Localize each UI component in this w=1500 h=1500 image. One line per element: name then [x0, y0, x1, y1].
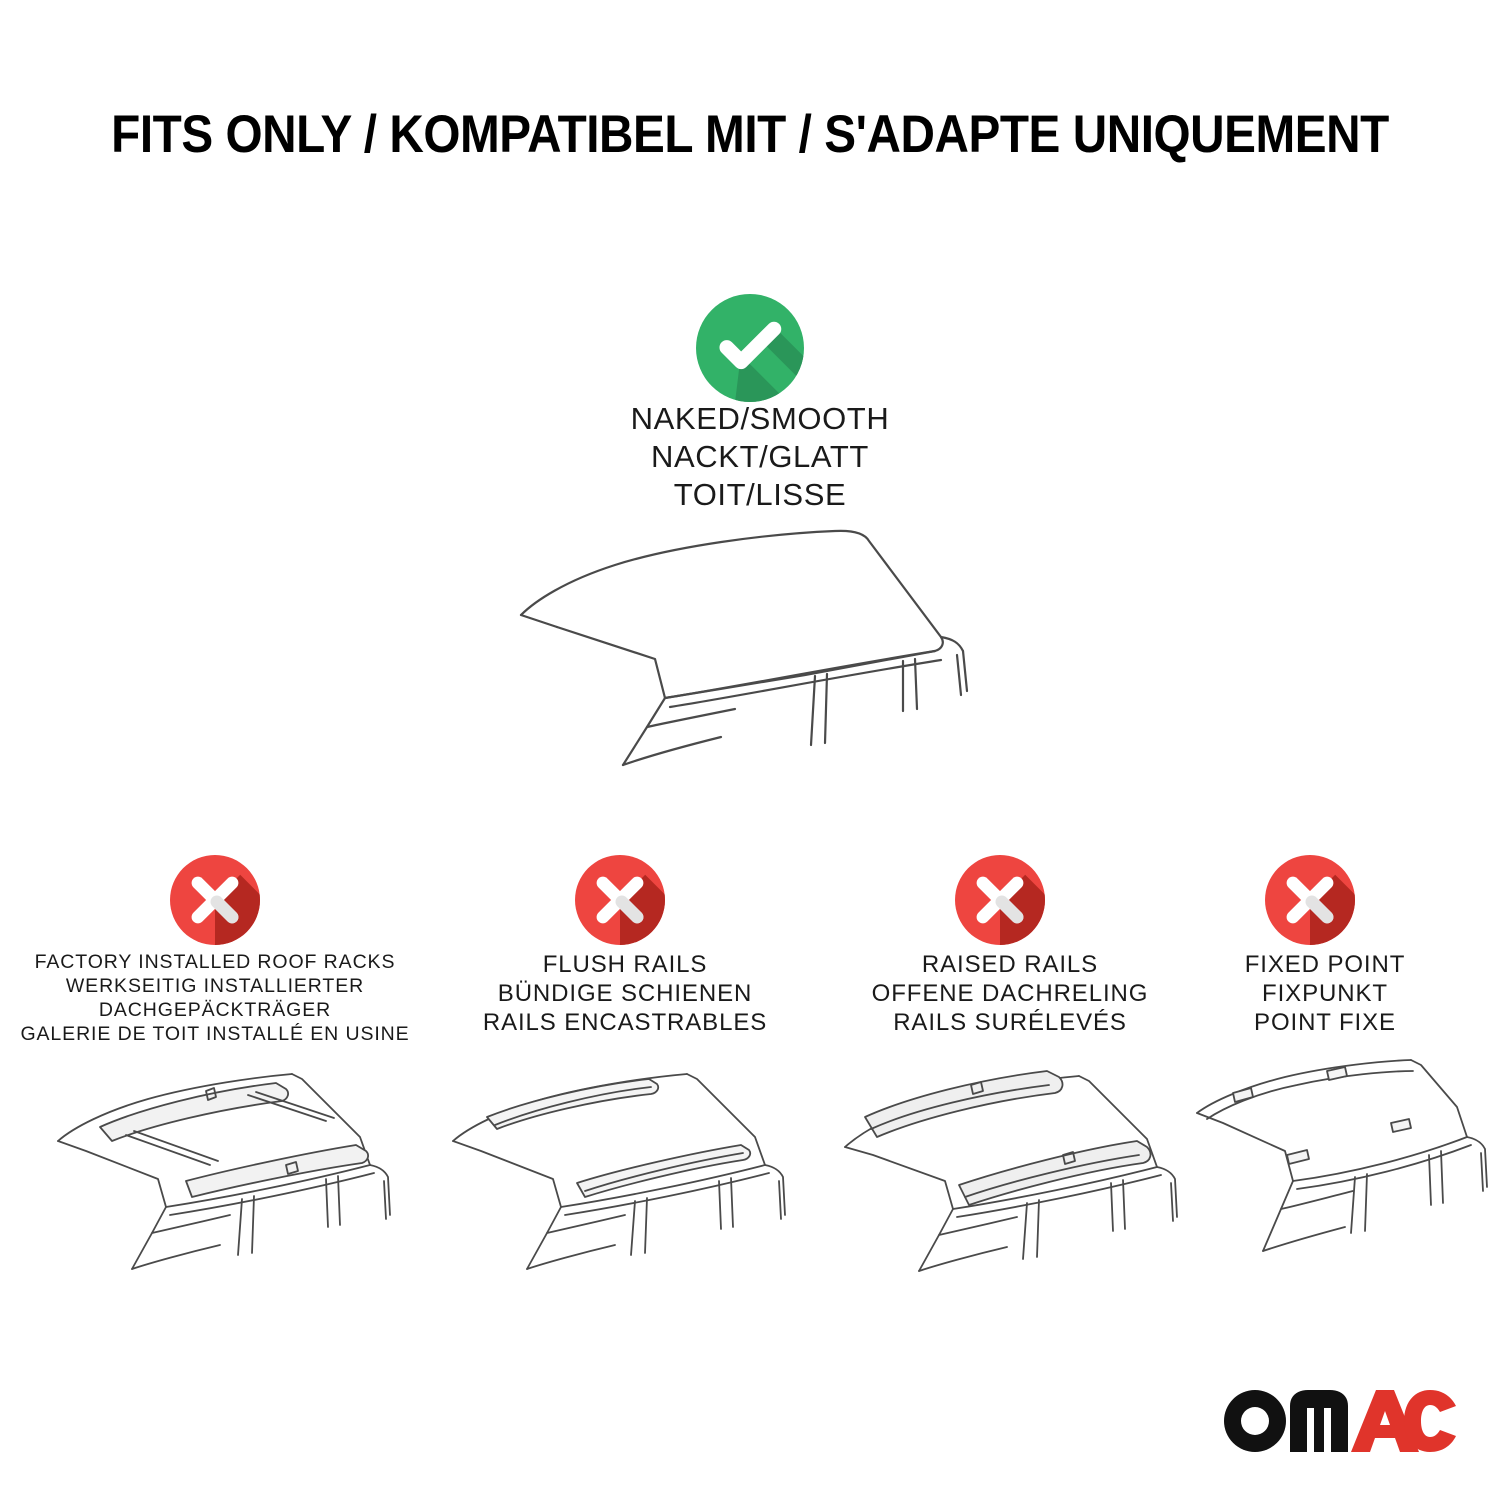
incompatible-caption: FACTORY INSTALLED ROOF RACKS WERKSEITIG …	[15, 950, 415, 1046]
caption-line: OFFENE DACHRELING	[815, 979, 1205, 1008]
car-roof-naked-icon	[505, 515, 1015, 795]
car-roof-flush-rails-icon	[435, 1055, 815, 1295]
caption-line: RAILS ENCASTRABLES	[430, 1008, 820, 1037]
caption-line: NAKED/SMOOTH	[520, 400, 1000, 438]
omac-logo	[1218, 1386, 1458, 1456]
page-title: FITS ONLY / KOMPATIBEL MIT / S'ADAPTE UN…	[75, 104, 1425, 165]
caption-line: NACKT/GLATT	[520, 438, 1000, 476]
caption-line: TOIT/LISSE	[520, 476, 1000, 514]
caption-line: RAISED RAILS	[815, 950, 1205, 979]
incompatible-caption: RAISED RAILS OFFENE DACHRELING RAILS SUR…	[815, 950, 1205, 1037]
incompatible-caption: FIXED POINT FIXPUNKT POINT FIXE	[1160, 950, 1490, 1037]
caption-line: FLUSH RAILS	[430, 950, 820, 979]
caption-line: BÜNDIGE SCHIENEN	[430, 979, 820, 1008]
caption-line: WERKSEITIG INSTALLIERTER	[15, 974, 415, 998]
cross-circle-icon	[575, 855, 665, 945]
incompatible-caption: FLUSH RAILS BÜNDIGE SCHIENEN RAILS ENCAS…	[430, 950, 820, 1037]
car-roof-raised-rails-icon	[825, 1055, 1205, 1295]
cross-circle-icon	[170, 855, 260, 945]
caption-line: POINT FIXE	[1160, 1008, 1490, 1037]
caption-line: GALERIE DE TOIT INSTALLÉ EN USINE	[15, 1022, 415, 1046]
cross-circle-icon	[1265, 855, 1355, 945]
car-roof-factory-rack-icon	[40, 1055, 420, 1295]
caption-line: RAILS SURÉLEVÉS	[815, 1008, 1205, 1037]
compatible-caption: NAKED/SMOOTH NACKT/GLATT TOIT/LISSE	[520, 400, 1000, 514]
caption-line: FIXPUNKT	[1160, 979, 1490, 1008]
caption-line: FACTORY INSTALLED ROOF RACKS	[15, 950, 415, 974]
car-roof-fixed-point-icon	[1185, 1055, 1495, 1295]
cross-circle-icon	[955, 855, 1045, 945]
caption-line: DACHGEPÄCKTRÄGER	[15, 998, 415, 1022]
check-circle-icon	[696, 294, 804, 402]
fitment-infographic: FITS ONLY / KOMPATIBEL MIT / S'ADAPTE UN…	[0, 0, 1500, 1500]
caption-line: FIXED POINT	[1160, 950, 1490, 979]
